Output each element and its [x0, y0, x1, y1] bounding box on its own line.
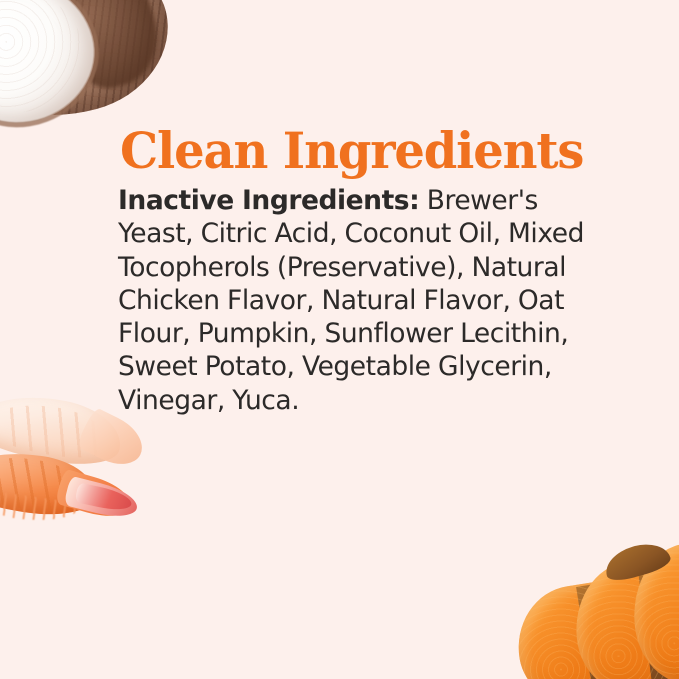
coconut-shadow — [43, 0, 169, 98]
coconut-husk — [0, 0, 186, 138]
sweet-potato-slice-1 — [510, 578, 639, 679]
sweet-potato-stem — [601, 537, 673, 584]
sweet-potato-slice-3 — [628, 540, 679, 679]
sweet-potato-skin — [637, 555, 679, 679]
sweet-potato-skin — [576, 580, 640, 679]
shrimp-front-segments — [0, 449, 87, 516]
sweet-potato-image — [508, 530, 679, 679]
shrimp-front-body — [0, 444, 99, 521]
shrimp-tail-fan-inner — [75, 482, 134, 513]
shrimp-back-body — [0, 384, 127, 473]
shrimp-tail-fan-middle — [63, 476, 140, 523]
ingredients-panel: Clean Ingredients Inactive Ingredients: … — [0, 0, 679, 679]
shrimp-legs — [0, 489, 83, 528]
shrimp-back-segments — [0, 394, 113, 465]
sweet-potato-slice-2 — [568, 556, 679, 679]
coconut-rim — [0, 0, 115, 145]
page-title: Clean Ingredients — [120, 122, 598, 180]
coconut-flesh — [0, 0, 110, 140]
ingredients-label: Inactive Ingredients: — [118, 185, 419, 216]
ingredients-paragraph: Inactive Ingredients: Brewer's Yeast, Ci… — [118, 184, 618, 417]
shrimp-tail-fan-outer — [54, 468, 135, 523]
ingredients-list: Brewer's Yeast, Citric Acid, Coconut Oil… — [118, 185, 584, 416]
text-content: Clean Ingredients Inactive Ingredients: … — [118, 122, 618, 417]
